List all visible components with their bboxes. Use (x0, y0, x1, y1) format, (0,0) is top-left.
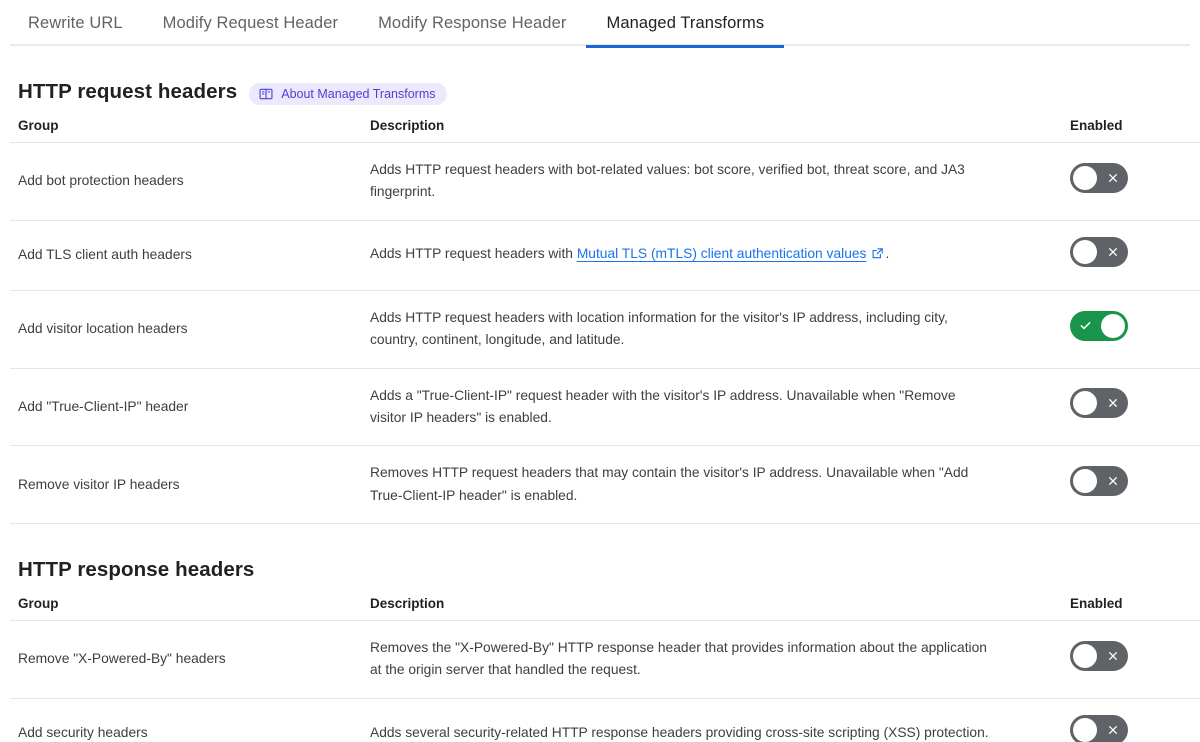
row-enabled-cell (1070, 220, 1200, 290)
description-text-before: Adds HTTP request headers with (370, 246, 577, 261)
close-icon (1107, 388, 1119, 418)
description-text-after: . (885, 246, 889, 261)
close-icon (1107, 466, 1119, 496)
row-enabled-cell (1070, 446, 1200, 524)
close-icon (1107, 715, 1119, 742)
enabled-toggle[interactable] (1070, 715, 1128, 742)
close-icon (1107, 163, 1119, 193)
managed-transforms-table: GroupDescriptionEnabledAdd bot protectio… (10, 114, 1200, 524)
row-group-name: Add TLS client auth headers (10, 220, 370, 290)
column-header-description: Description (370, 592, 1070, 621)
table-row: Add visitor location headersAdds HTTP re… (10, 291, 1200, 369)
enabled-toggle[interactable] (1070, 641, 1128, 671)
enabled-toggle[interactable] (1070, 466, 1128, 496)
table-row: Add TLS client auth headersAdds HTTP req… (10, 220, 1200, 290)
column-header-enabled: Enabled (1070, 114, 1200, 143)
toggle-knob (1073, 240, 1097, 264)
row-description: Removes HTTP request headers that may co… (370, 446, 1070, 524)
row-group-name: Add bot protection headers (10, 143, 370, 221)
row-description: Adds HTTP request headers with location … (370, 291, 1070, 369)
row-description: Adds HTTP request headers with Mutual TL… (370, 220, 1070, 290)
table-header-row: GroupDescriptionEnabled (10, 114, 1200, 143)
book-icon (259, 87, 273, 101)
tab-modify-request-header[interactable]: Modify Request Header (143, 0, 358, 46)
toggle-knob (1073, 391, 1097, 415)
sections-container: HTTP request headersAbout Managed Transf… (0, 46, 1200, 742)
enabled-toggle[interactable] (1070, 311, 1128, 341)
section-header: HTTP response headers (10, 524, 1190, 592)
toggle-knob (1073, 166, 1097, 190)
row-group-name: Add "True-Client-IP" header (10, 368, 370, 446)
tab-rewrite-url[interactable]: Rewrite URL (10, 0, 143, 46)
table-row: Remove visitor IP headersRemoves HTTP re… (10, 446, 1200, 524)
managed-transforms-page: Rewrite URLModify Request HeaderModify R… (0, 0, 1200, 742)
tab-label: Modify Response Header (378, 14, 566, 33)
column-header-enabled: Enabled (1070, 592, 1200, 621)
about-managed-transforms-badge[interactable]: About Managed Transforms (249, 83, 447, 105)
column-header-description: Description (370, 114, 1070, 143)
toggle-knob (1101, 314, 1125, 338)
close-icon (1107, 641, 1119, 671)
row-enabled-cell (1070, 291, 1200, 369)
row-description: Adds HTTP request headers with bot-relat… (370, 143, 1070, 221)
section-title: HTTP response headers (18, 558, 254, 582)
tab-label: Modify Request Header (163, 14, 338, 33)
toggle-knob (1073, 718, 1097, 742)
tab-managed-transforms[interactable]: Managed Transforms (586, 0, 784, 46)
row-group-name: Add visitor location headers (10, 291, 370, 369)
enabled-toggle[interactable] (1070, 388, 1128, 418)
row-group-name: Add security headers (10, 698, 370, 742)
external-link-icon[interactable] (871, 245, 884, 267)
section-1: HTTP response headersGroupDescriptionEna… (10, 524, 1190, 742)
tab-label: Rewrite URL (28, 14, 123, 33)
row-description: Adds several security-related HTTP respo… (370, 698, 1070, 742)
tab-modify-response-header[interactable]: Modify Response Header (358, 0, 586, 46)
close-icon (1107, 237, 1119, 267)
enabled-toggle[interactable] (1070, 237, 1128, 267)
row-description: Adds a "True-Client-IP" request header w… (370, 368, 1070, 446)
table-row: Remove "X-Powered-By" headersRemoves the… (10, 621, 1200, 699)
section-title: HTTP request headers (18, 80, 237, 104)
column-header-group: Group (10, 114, 370, 143)
section-header: HTTP request headersAbout Managed Transf… (10, 46, 1190, 114)
table-row: Add bot protection headersAdds HTTP requ… (10, 143, 1200, 221)
enabled-toggle[interactable] (1070, 163, 1128, 193)
section-0: HTTP request headersAbout Managed Transf… (10, 46, 1190, 524)
table-row: Add security headersAdds several securit… (10, 698, 1200, 742)
row-group-name: Remove visitor IP headers (10, 446, 370, 524)
column-header-group: Group (10, 592, 370, 621)
row-description: Removes the "X-Powered-By" HTTP response… (370, 621, 1070, 699)
row-enabled-cell (1070, 621, 1200, 699)
toggle-knob (1073, 469, 1097, 493)
row-group-name: Remove "X-Powered-By" headers (10, 621, 370, 699)
row-enabled-cell (1070, 143, 1200, 221)
row-enabled-cell (1070, 368, 1200, 446)
mtls-documentation-link[interactable]: Mutual TLS (mTLS) client authentication … (577, 246, 867, 261)
tab-label: Managed Transforms (606, 14, 764, 33)
check-icon (1079, 311, 1092, 341)
row-enabled-cell (1070, 698, 1200, 742)
badge-label: About Managed Transforms (281, 88, 435, 101)
table-header-row: GroupDescriptionEnabled (10, 592, 1200, 621)
toggle-knob (1073, 644, 1097, 668)
table-row: Add "True-Client-IP" headerAdds a "True-… (10, 368, 1200, 446)
managed-transforms-table: GroupDescriptionEnabledRemove "X-Powered… (10, 592, 1200, 742)
tab-bar: Rewrite URLModify Request HeaderModify R… (10, 0, 1190, 46)
